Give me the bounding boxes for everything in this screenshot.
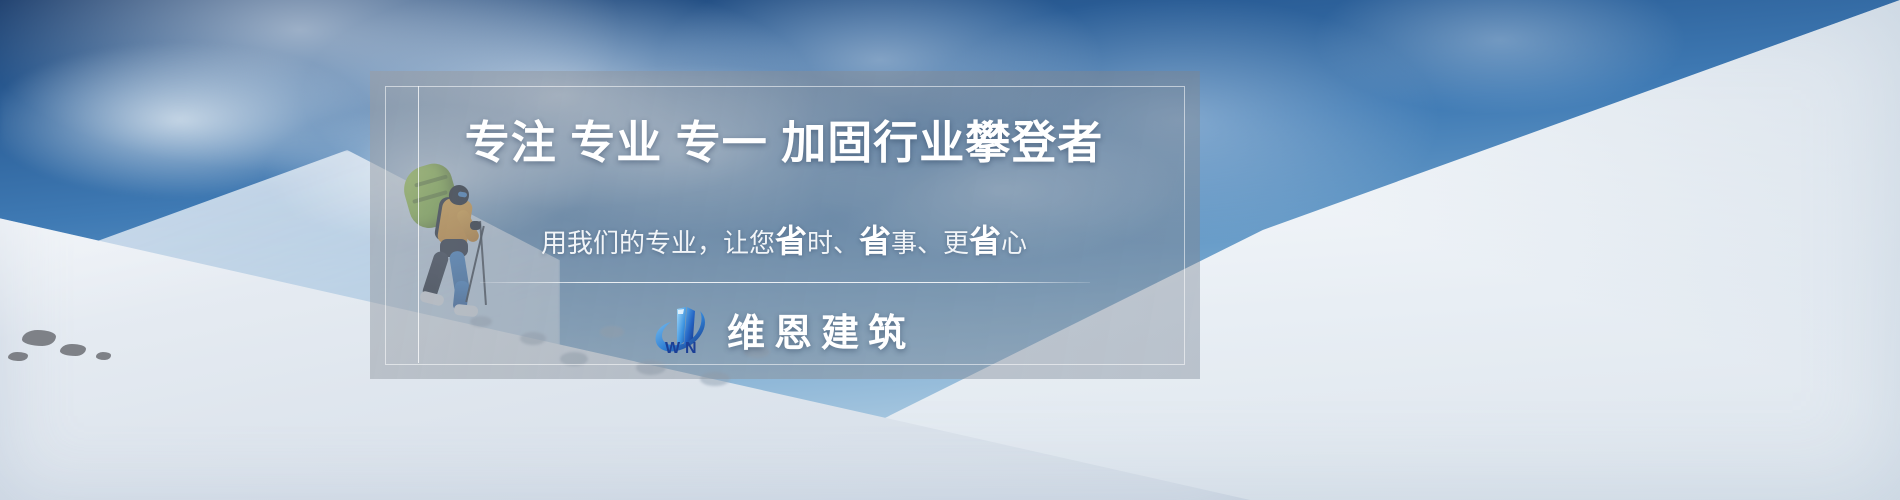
logo-letter-n: N <box>685 340 697 358</box>
banner-headline: 专注 专业 专一 加固行业攀登者 <box>385 120 1183 165</box>
company-name: 维恩建筑 <box>727 302 915 357</box>
subtitle-part-3: 事、更 <box>891 228 969 258</box>
subtitle-part-2: 时、 <box>807 228 859 258</box>
banner-content: 专注 专业 专一 加固行业攀登者 用我们的专业，让您省时、省事、更省心 <box>385 86 1183 363</box>
rock <box>96 352 111 360</box>
rock <box>60 344 86 356</box>
subtitle-emphasis-1: 省 <box>775 223 807 259</box>
rock <box>22 330 56 346</box>
company-logo-icon: W N <box>653 302 711 356</box>
banner-subtitle: 用我们的专业，让您省时、省事、更省心 <box>385 225 1183 257</box>
rock <box>8 352 28 361</box>
logo-letter-w: W <box>665 340 680 358</box>
subtitle-emphasis-3: 省 <box>969 223 1001 259</box>
hero-banner: 专注 专业 专一 加固行业攀登者 用我们的专业，让您省时、省事、更省心 <box>0 0 1900 500</box>
brand-row: W N 维恩建筑 <box>385 300 1183 358</box>
content-divider <box>480 282 1090 283</box>
subtitle-part-4: 心 <box>1001 228 1027 258</box>
subtitle-emphasis-2: 省 <box>859 223 891 259</box>
subtitle-part-1: 用我们的专业，让您 <box>541 228 775 258</box>
